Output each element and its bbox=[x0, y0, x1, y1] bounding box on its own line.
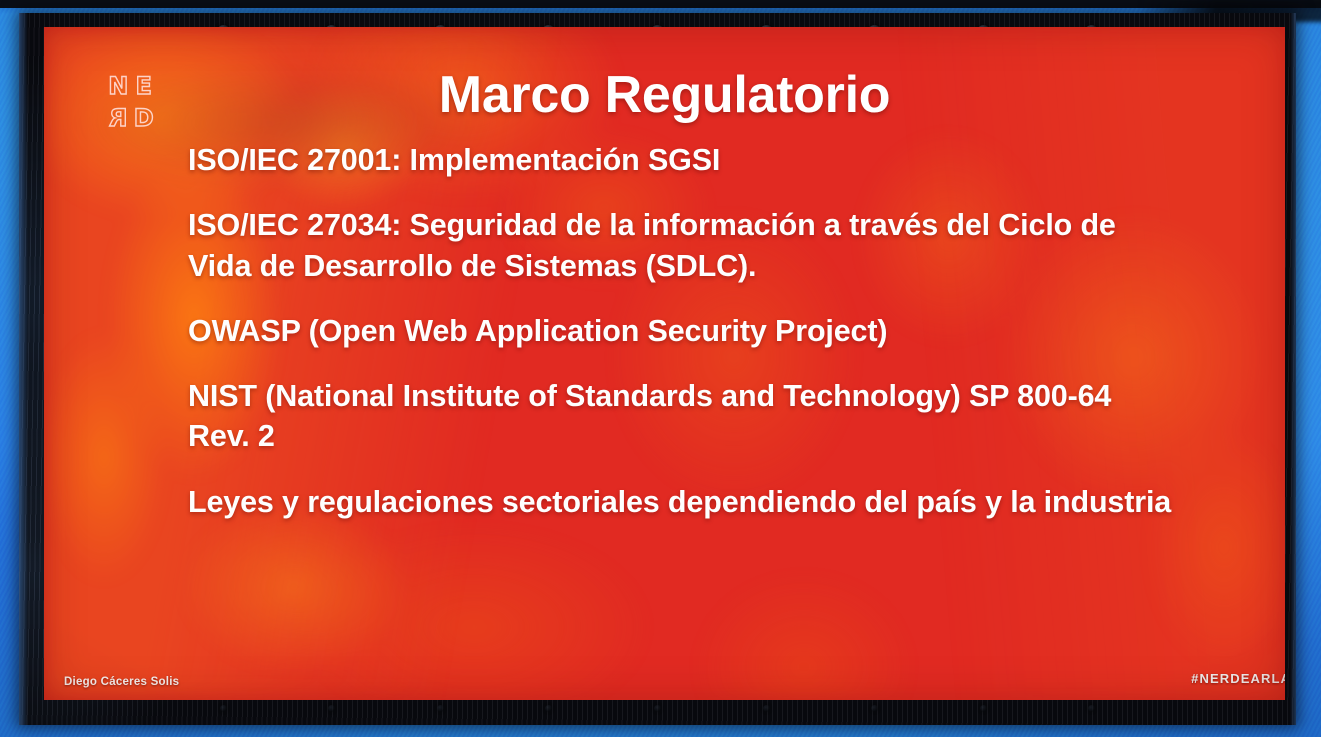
bezel-left-highlight bbox=[19, 13, 28, 725]
light-dot bbox=[763, 705, 770, 712]
slide-title: Marco Regulatorio bbox=[44, 65, 1285, 125]
bullet-item: ISO/IEC 27034: Seguridad de la informaci… bbox=[188, 205, 1181, 286]
bullet-item: NIST (National Institute of Standards an… bbox=[188, 376, 1181, 457]
light-dot bbox=[1088, 705, 1095, 712]
event-hashtag: #NERDEARLA bbox=[1191, 671, 1285, 686]
light-dot bbox=[654, 705, 661, 712]
presentation-slide: N E R D Marco Regulatorio ISO/IEC 27001:… bbox=[44, 27, 1285, 700]
ceiling-strip bbox=[0, 0, 1321, 8]
light-dot bbox=[871, 705, 878, 712]
slide-bullet-list: ISO/IEC 27001: Implementación SGSI ISO/I… bbox=[188, 140, 1181, 522]
light-dot bbox=[328, 705, 335, 712]
bullet-item: ISO/IEC 27001: Implementación SGSI bbox=[188, 140, 1181, 180]
light-dot bbox=[545, 705, 552, 712]
bullet-item: OWASP (Open Web Application Security Pro… bbox=[188, 311, 1181, 351]
speaker-name: Diego Cáceres Solis bbox=[64, 676, 179, 688]
light-dot bbox=[980, 705, 987, 712]
bullet-item: Leyes y regulaciones sectoriales dependi… bbox=[188, 482, 1181, 522]
bottom-light-dots bbox=[19, 700, 1296, 716]
bezel-right-highlight bbox=[1290, 13, 1296, 725]
light-dot bbox=[437, 705, 444, 712]
light-dot bbox=[220, 705, 227, 712]
